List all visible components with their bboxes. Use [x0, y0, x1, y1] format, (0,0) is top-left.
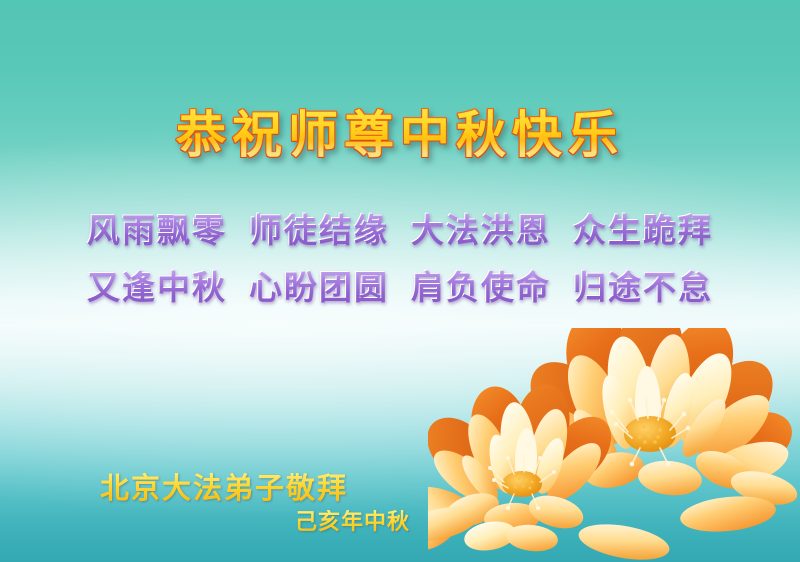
- couplet-phrase: 归途不怠: [573, 268, 713, 307]
- page-title: 恭祝师尊中秋快乐: [0, 104, 800, 166]
- couplet-phrase: 众生跪拜: [573, 211, 713, 250]
- couplet-phrase: 肩负使命: [411, 268, 551, 307]
- greeting-card: 恭祝师尊中秋快乐 风雨飘零师徒结缘大法洪恩众生跪拜 又逢中秋心盼团圆肩负使命归途…: [0, 0, 800, 562]
- couplet-line-1: 风雨飘零师徒结缘大法洪恩众生跪拜: [0, 211, 800, 251]
- signature-text: 北京大法弟子敬拜: [100, 471, 348, 505]
- couplet-phrase: 又逢中秋: [87, 268, 227, 307]
- couplet-phrase: 师徒结缘: [249, 211, 389, 250]
- signature-date: 己亥年中秋: [295, 510, 410, 536]
- couplet-line-2: 又逢中秋心盼团圆肩负使命归途不怠: [0, 268, 800, 308]
- couplet-phrase: 风雨飘零: [87, 211, 227, 250]
- couplet-phrase: 心盼团圆: [249, 268, 389, 307]
- couplet-phrase: 大法洪恩: [411, 211, 551, 250]
